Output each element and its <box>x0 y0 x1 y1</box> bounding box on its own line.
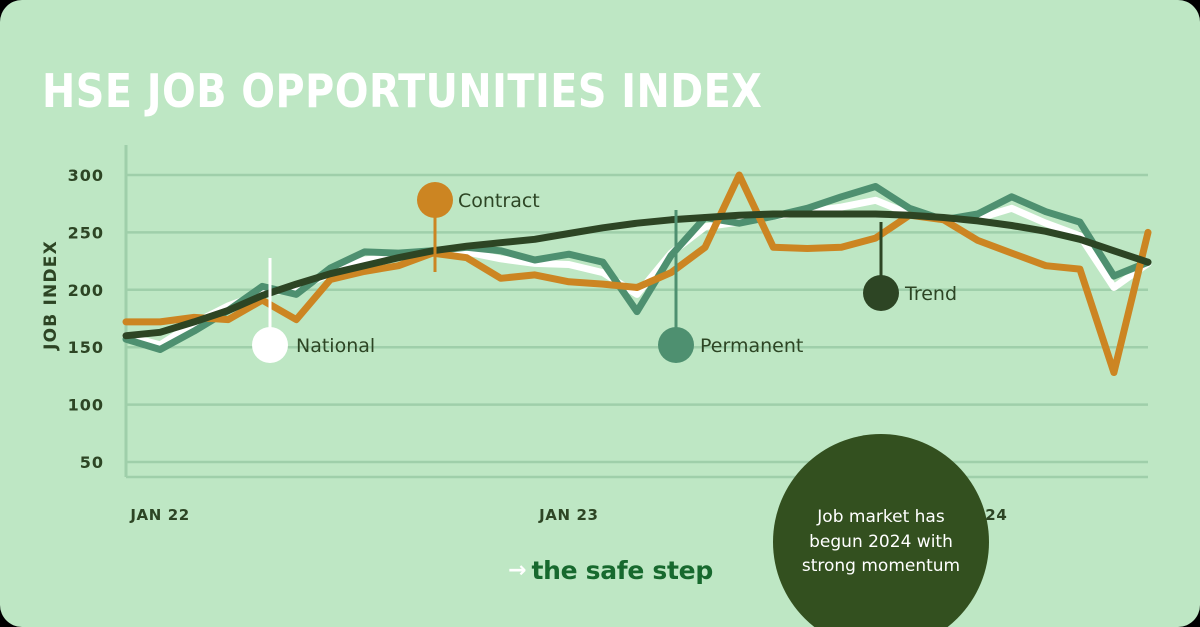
y-axis-tick-label: 250 <box>68 223 104 242</box>
arrow-right-icon: → <box>508 560 526 582</box>
callout-dot-trend <box>863 275 899 311</box>
y-axis-tick-label: 50 <box>80 453 104 472</box>
y-axis-tick-label: 200 <box>68 281 104 300</box>
callout-label-national: National <box>296 335 375 357</box>
y-axis-tick-label: 100 <box>68 396 104 415</box>
line-chart: 50100150200250300JOB INDEXJAN 22JAN 23JA… <box>0 0 1200 627</box>
x-axis-tick-label: JAN 22 <box>129 506 189 524</box>
callout-dot-permanent <box>658 327 694 363</box>
callout-label-permanent: Permanent <box>700 335 803 357</box>
callout-dot-contract <box>417 182 453 218</box>
chart-card: HSE JOB OPPORTUNITIES INDEX 501001502002… <box>0 0 1200 627</box>
y-axis-title: JOB INDEX <box>41 240 61 351</box>
brand-name: the safe step <box>531 556 712 585</box>
callout-label-contract: Contract <box>458 190 540 212</box>
y-axis-tick-label: 300 <box>68 166 104 185</box>
y-axis-tick-label: 150 <box>68 338 104 357</box>
x-axis-tick-label: JAN 23 <box>538 506 598 524</box>
status-badge-text: Job market has begun 2024 with strong mo… <box>773 505 989 579</box>
callout-dot-national <box>252 327 288 363</box>
brand-logo: → the safe step <box>508 556 713 585</box>
callout-label-trend: Trend <box>904 283 957 305</box>
